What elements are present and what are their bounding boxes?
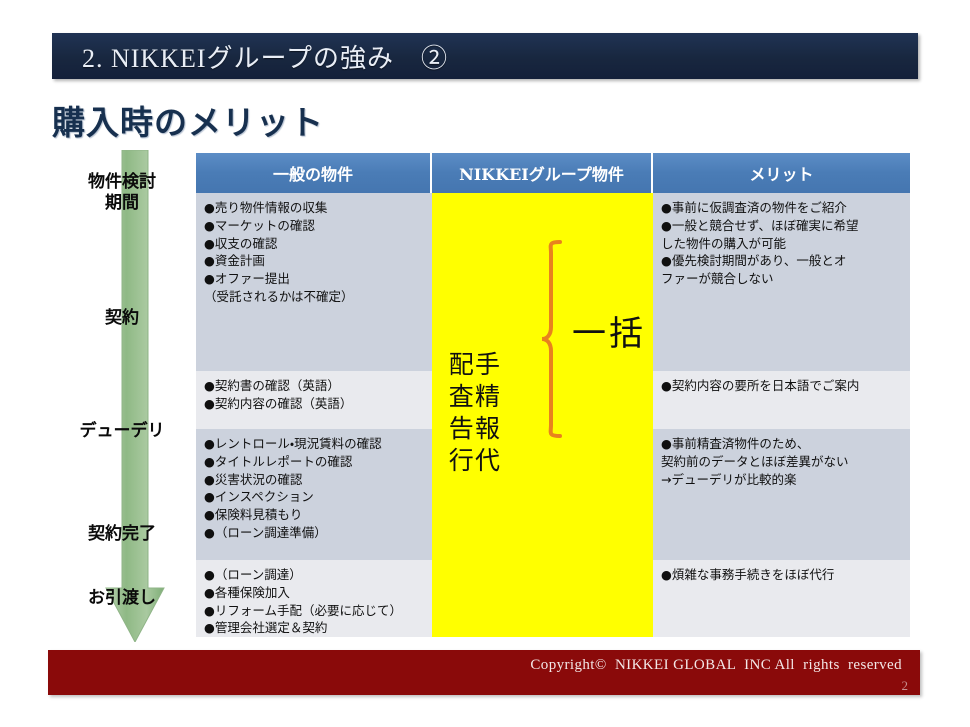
stage-label-due-diligence: デューデリ — [52, 421, 192, 442]
copyright-text: Copyright© NIKKEI GLOBAL INC All rights … — [530, 657, 902, 674]
slide-title-bar: 2. NIKKEIグループの強み ② — [52, 33, 918, 79]
cell-merit-row1: ●事前に仮調査済の物件をご紹介 ●一般と競合せず、ほぼ確実に希望 した物件の購入… — [653, 193, 910, 371]
cell-general-row2: ●契約書の確認（英語） ●契約内容の確認（英語） — [196, 371, 432, 429]
summary-label-ikkatsu: 一括 — [572, 306, 646, 355]
table-header-row: 一般の物件 NIKKEIグループ物件 メリット — [196, 153, 910, 193]
curly-brace-icon — [540, 239, 566, 439]
column-header-merit: メリット — [653, 153, 910, 193]
cell-general-row3: ●レントロール・現況賃料の確認 ●タイトルレポートの確認 ●災害状況の確認 ●イ… — [196, 429, 432, 560]
slide-subtitle: 購入時のメリット — [52, 96, 324, 144]
vertical-text-right-column: 手精報代 — [472, 351, 498, 479]
cell-merit-row3: ●事前精査済物件のため、 契約前のデータとほぼ差異がない →デューデリが比較的楽 — [653, 429, 910, 560]
stage-label-property-review: 物件検討 期間 — [58, 172, 186, 215]
stage-label-handover: お引渡し — [56, 588, 188, 609]
cell-merit-row2: ●契約内容の要所を日本語でご案内 — [653, 371, 910, 429]
stage-label-contract-complete: 契約完了 — [56, 524, 188, 545]
cell-general-row1: ●売り物件情報の収集 ●マーケットの確認 ●収支の確認 ●資金計画 ●オファー提… — [196, 193, 432, 371]
cell-general-row4: ●（ローン調達） ●各種保険加入 ●リフォーム手配（必要に応じて） ●管理会社選… — [196, 560, 432, 637]
benefits-comparison-table: 一般の物件 NIKKEIグループ物件 メリット ●売り物件情報の収集 ●マーケッ… — [196, 153, 910, 637]
nikkei-service-highlight-column: 手精報代 配査告行 一括 — [432, 193, 653, 637]
vertical-service-text: 手精報代 配査告行 — [446, 351, 499, 479]
vertical-text-left-column: 配査告行 — [446, 351, 472, 479]
table-body: ●売り物件情報の収集 ●マーケットの確認 ●収支の確認 ●資金計画 ●オファー提… — [196, 193, 910, 637]
column-header-nikkei-property: NIKKEIグループ物件 — [432, 153, 653, 193]
cell-merit-row4: ●煩雑な事務手続きをほぼ代行 — [653, 560, 910, 637]
page-title: 2. NIKKEIグループの強み ② — [82, 38, 448, 75]
process-flow-arrow-icon — [100, 150, 170, 642]
slide-footer-bar: Copyright© NIKKEI GLOBAL INC All rights … — [48, 650, 920, 695]
column-header-general-property: 一般の物件 — [196, 153, 432, 193]
page-number: 2 — [902, 678, 909, 694]
stage-label-contract: 契約 — [58, 308, 186, 329]
